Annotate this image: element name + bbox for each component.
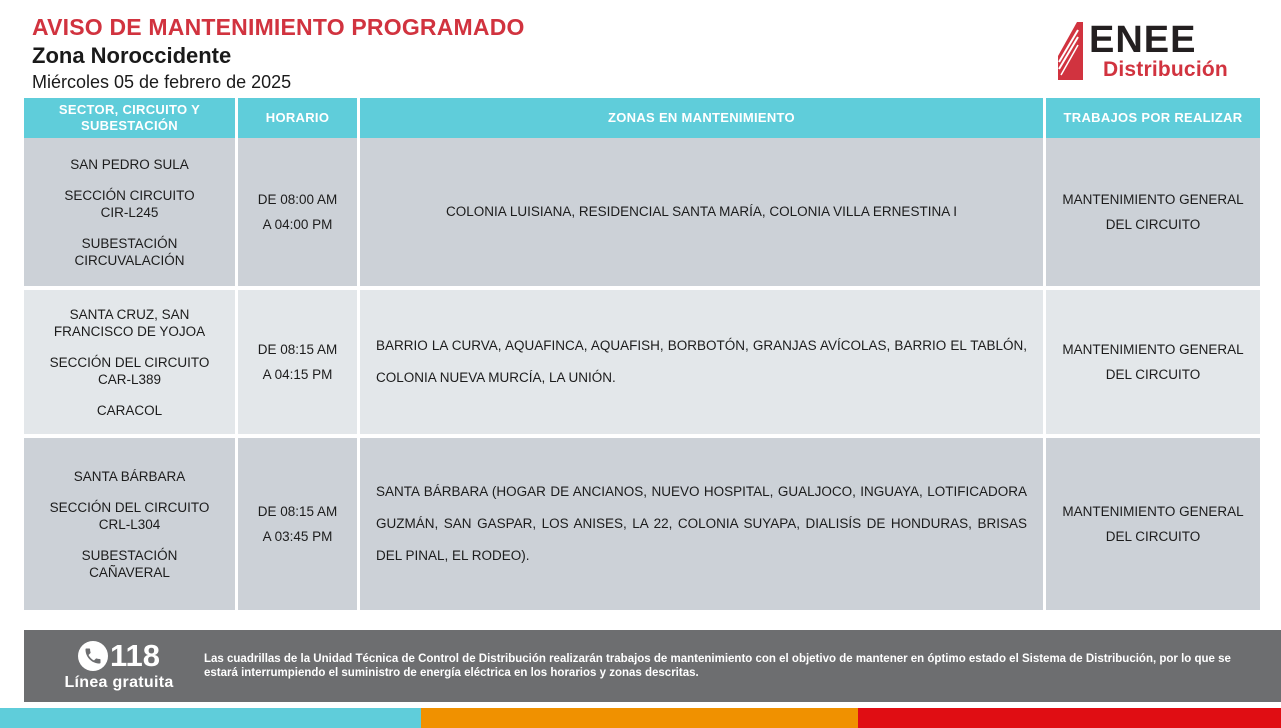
trabajos-text: MANTENIMIENTO GENERAL DEL CIRCUITO — [1056, 499, 1250, 549]
horario-lines-0: DE 08:00 AMA 04:00 PM — [248, 187, 347, 237]
hotline-number: 118 — [110, 640, 160, 672]
sector-segment: SANTA BÁRBARA — [74, 468, 186, 485]
column-header-trabajos: TRABAJOS POR REALIZAR — [1046, 98, 1260, 138]
column-header-horario: HORARIO — [238, 98, 360, 138]
cell-horario: DE 08:00 AMA 04:00 PM — [238, 138, 360, 286]
horario-line: DE 08:15 AM — [258, 499, 338, 524]
column-header-zonas: ZONAS EN MANTENIMIENTO — [360, 98, 1046, 138]
trabajos-text: MANTENIMIENTO GENERAL DEL CIRCUITO — [1056, 187, 1250, 237]
sector-segment: SECCIÓN DEL CIRCUITOCAR-L389 — [50, 354, 210, 388]
sector-lines-0: SAN PEDRO SULASECCIÓN CIRCUITOCIR-L245SU… — [34, 156, 225, 269]
horario-line: DE 08:15 AM — [258, 337, 338, 362]
hotline-row: 118 — [44, 640, 194, 672]
cell-trabajos: MANTENIMIENTO GENERAL DEL CIRCUITO — [1046, 138, 1260, 286]
cell-zonas: SANTA BÁRBARA (HOGAR DE ANCIANOS, NUEVO … — [360, 438, 1046, 610]
sector-segment: SUBESTACIÓNCIRCUVALACIÓN — [74, 235, 184, 269]
header-text-block: AVISO DE MANTENIMIENTO PROGRAMADO Zona N… — [32, 14, 525, 94]
page-header: AVISO DE MANTENIMIENTO PROGRAMADO Zona N… — [0, 0, 1281, 96]
cell-horario: DE 08:15 AMA 03:45 PM — [238, 438, 360, 610]
logo-subtext: Distribución — [1103, 58, 1228, 81]
stripe-segment-cyan — [0, 708, 421, 728]
enee-logo-mark-icon — [1055, 22, 1085, 80]
cell-trabajos: MANTENIMIENTO GENERAL DEL CIRCUITO — [1046, 290, 1260, 434]
cell-sector: SANTA CRUZ, SANFRANCISCO DE YOJOASECCIÓN… — [24, 290, 238, 434]
sector-segment: SECCIÓN DEL CIRCUITOCRL-L304 — [50, 499, 210, 533]
page-title: AVISO DE MANTENIMIENTO PROGRAMADO — [32, 14, 525, 41]
table-row: SAN PEDRO SULASECCIÓN CIRCUITOCIR-L245SU… — [24, 138, 1260, 290]
stripe-segment-orange — [421, 708, 858, 728]
cell-zonas: COLONIA LUISIANA, RESIDENCIAL SANTA MARÍ… — [360, 138, 1046, 286]
sector-segment: SAN PEDRO SULA — [70, 156, 189, 173]
zonas-text: BARRIO LA CURVA, AQUAFINCA, AQUAFISH, BO… — [370, 330, 1033, 394]
sector-lines-2: SANTA BÁRBARASECCIÓN DEL CIRCUITOCRL-L30… — [34, 468, 225, 581]
zonas-text: COLONIA LUISIANA, RESIDENCIAL SANTA MARÍ… — [370, 196, 1033, 228]
maintenance-table: SECTOR, CIRCUITO Y SUBESTACIÓN HORARIO Z… — [24, 98, 1260, 610]
horario-lines-2: DE 08:15 AMA 03:45 PM — [248, 499, 347, 549]
sector-segment: CARACOL — [97, 402, 162, 419]
horario-line: A 04:00 PM — [263, 212, 333, 237]
hotline-block: 118 Línea gratuita — [44, 640, 194, 692]
table-header-row: SECTOR, CIRCUITO Y SUBESTACIÓN HORARIO Z… — [24, 98, 1260, 138]
sector-segment: SECCIÓN CIRCUITOCIR-L245 — [64, 187, 194, 221]
cell-sector: SAN PEDRO SULASECCIÓN CIRCUITOCIR-L245SU… — [24, 138, 238, 286]
cell-zonas: BARRIO LA CURVA, AQUAFINCA, AQUAFISH, BO… — [360, 290, 1046, 434]
sector-segment: SANTA CRUZ, SANFRANCISCO DE YOJOA — [54, 306, 205, 340]
cell-horario: DE 08:15 AMA 04:15 PM — [238, 290, 360, 434]
horario-line: DE 08:00 AM — [258, 187, 338, 212]
notice-date: Miércoles 05 de febrero de 2025 — [32, 70, 525, 94]
table-row: SANTA BÁRBARASECCIÓN DEL CIRCUITOCRL-L30… — [24, 438, 1260, 610]
phone-icon — [78, 641, 108, 671]
sector-lines-1: SANTA CRUZ, SANFRANCISCO DE YOJOASECCIÓN… — [34, 306, 225, 419]
table-row: SANTA CRUZ, SANFRANCISCO DE YOJOASECCIÓN… — [24, 290, 1260, 438]
footer-note: Las cuadrillas de la Unidad Técnica de C… — [194, 652, 1281, 680]
maintenance-notice-page: AVISO DE MANTENIMIENTO PROGRAMADO Zona N… — [0, 0, 1281, 728]
hotline-label: Línea gratuita — [44, 673, 194, 692]
sector-segment: SUBESTACIÓNCAÑAVERAL — [82, 547, 178, 581]
logo-wordmark: ENEE — [1089, 20, 1196, 60]
enee-logo: ENEE Distribución — [1055, 20, 1243, 82]
column-header-sector: SECTOR, CIRCUITO Y SUBESTACIÓN — [24, 98, 238, 138]
zonas-text: SANTA BÁRBARA (HOGAR DE ANCIANOS, NUEVO … — [370, 476, 1033, 572]
cell-trabajos: MANTENIMIENTO GENERAL DEL CIRCUITO — [1046, 438, 1260, 610]
horario-line: A 03:45 PM — [263, 524, 333, 549]
stripe-segment-red — [858, 708, 1281, 728]
cell-sector: SANTA BÁRBARASECCIÓN DEL CIRCUITOCRL-L30… — [24, 438, 238, 610]
footer-bar: 118 Línea gratuita Las cuadrillas de la … — [24, 630, 1281, 702]
zone-subtitle: Zona Noroccidente — [32, 41, 525, 70]
table-body: SAN PEDRO SULASECCIÓN CIRCUITOCIR-L245SU… — [24, 138, 1260, 610]
bottom-color-stripe — [0, 708, 1281, 728]
horario-line: A 04:15 PM — [263, 362, 333, 387]
trabajos-text: MANTENIMIENTO GENERAL DEL CIRCUITO — [1056, 337, 1250, 387]
horario-lines-1: DE 08:15 AMA 04:15 PM — [248, 337, 347, 387]
